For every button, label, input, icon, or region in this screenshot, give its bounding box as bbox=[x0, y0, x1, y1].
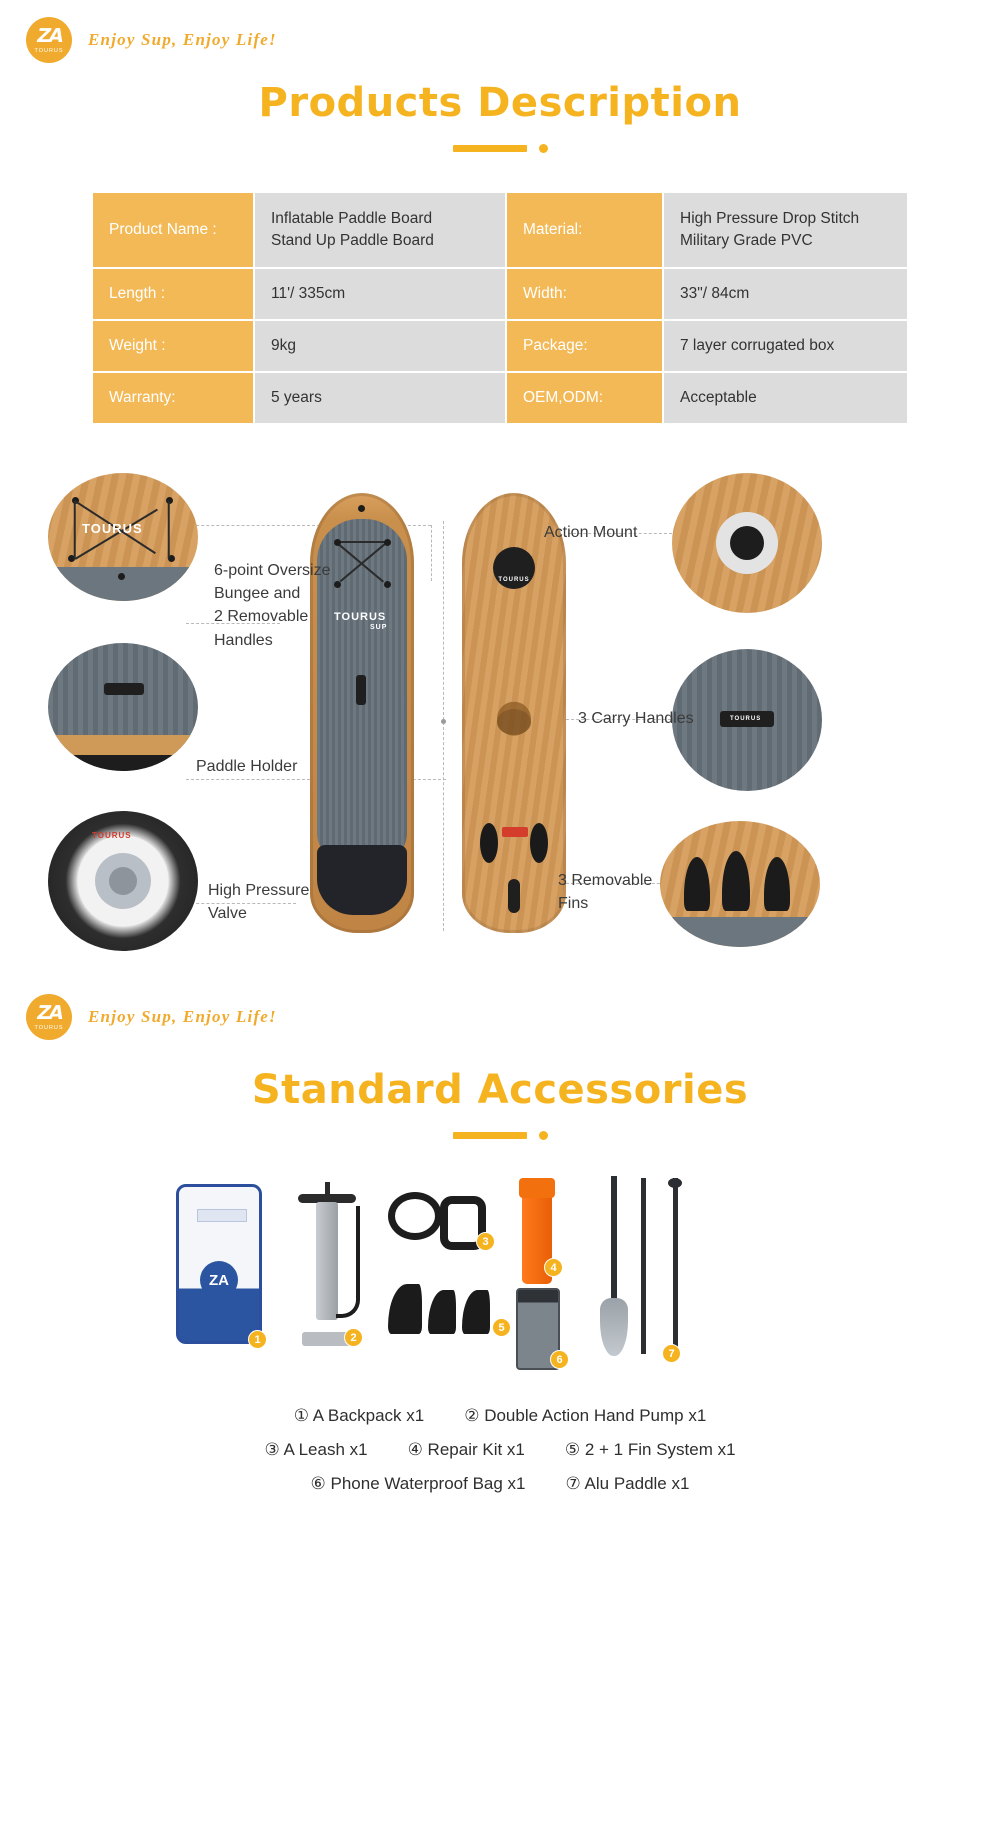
spec-value-length: 11'/ 335cm bbox=[255, 269, 505, 319]
legend-item-fin-system: ⑤ 2 + 1 Fin System x1 bbox=[565, 1440, 736, 1460]
accessory-badge-3: 3 bbox=[476, 1232, 495, 1251]
spec-value-package: 7 layer corrugated box bbox=[664, 321, 907, 371]
spec-value-material: High Pressure Drop Stitch Military Grade… bbox=[664, 193, 907, 267]
logo-initials: ZA bbox=[35, 1004, 64, 1023]
header-logo-band: ZA TOURUS Enjoy Sup, Enjoy Life! bbox=[0, 0, 1000, 62]
board-tail-pad bbox=[317, 845, 407, 915]
spec-key-warranty: Warranty: bbox=[93, 373, 253, 423]
accessory-badge-7: 7 bbox=[662, 1344, 681, 1363]
accessories-gallery: ZA 1 2 3 5 4 bbox=[0, 1166, 1000, 1396]
accessory-badge-1: 1 bbox=[248, 1330, 267, 1349]
spec-key-package: Package: bbox=[507, 321, 662, 371]
board-center-handle bbox=[356, 675, 366, 705]
footer-logo-band: ZA TOURUS Enjoy Sup, Enjoy Life! bbox=[0, 983, 1000, 1045]
legend-item-repair-kit: ④ Repair Kit x1 bbox=[408, 1440, 525, 1460]
callout-fins: 3 Removable Fins bbox=[558, 869, 668, 915]
spec-value-warranty: 5 years bbox=[255, 373, 505, 423]
board-back-logo-label: TOURUS bbox=[498, 577, 529, 583]
detail-photo-carry-handle: TOURUS bbox=[672, 649, 822, 791]
handle-brand-label: TOURUS bbox=[730, 716, 761, 722]
pump-barrel bbox=[316, 1202, 338, 1320]
spec-key-oem-odm: OEM,ODM: bbox=[507, 373, 662, 423]
detail-photo-paddle-holder bbox=[48, 643, 198, 771]
divider-dot-icon bbox=[539, 1131, 548, 1140]
table-row: Weight : 9kg Package: 7 layer corrugated… bbox=[93, 321, 907, 371]
repair-kit-cap bbox=[519, 1178, 555, 1198]
table-row: Warranty: 5 years OEM,ODM: Acceptable bbox=[93, 373, 907, 423]
detail-photo-fins bbox=[660, 821, 820, 947]
detail-photo-brand-label: TOURUS bbox=[82, 521, 143, 536]
accessory-hand-pump: 2 bbox=[292, 1176, 362, 1346]
bag-strip bbox=[197, 1209, 247, 1222]
title-divider bbox=[0, 144, 1000, 153]
board-rear-handle bbox=[508, 879, 520, 913]
accessory-paddle-rod-top bbox=[668, 1178, 682, 1354]
brand-logo-icon: ZA TOURUS bbox=[26, 994, 72, 1040]
page-title-standard-accessories: Standard Accessories bbox=[0, 1067, 1000, 1113]
paddle-shaft bbox=[611, 1176, 617, 1304]
logo-wordmark: TOURUS bbox=[34, 1025, 63, 1031]
accessory-repair-kit: 4 bbox=[522, 1188, 552, 1284]
callout-paddle-holder: Paddle Holder bbox=[196, 755, 297, 778]
legend-item-alu-paddle: ⑦ Alu Paddle x1 bbox=[566, 1474, 690, 1494]
paddle-blade bbox=[600, 1298, 628, 1356]
spec-key-product-name: Product Name : bbox=[93, 193, 253, 267]
title-divider bbox=[0, 1131, 1000, 1140]
detail-photo-valve: TOURUS bbox=[48, 811, 198, 951]
accessory-badge-5: 5 bbox=[492, 1318, 511, 1337]
accessory-badge-2: 2 bbox=[344, 1328, 363, 1347]
brand-logo-icon: ZA TOURUS bbox=[26, 17, 72, 63]
divider-bar bbox=[453, 1132, 527, 1139]
spec-key-weight: Weight : bbox=[93, 321, 253, 371]
turtle-graphic-icon bbox=[481, 689, 547, 755]
spec-value-oem-odm: Acceptable bbox=[664, 373, 907, 423]
board-front-sub-label: SUP bbox=[370, 624, 387, 631]
bag-logo-icon: ZA bbox=[200, 1261, 238, 1299]
spec-value-width: 33"/ 84cm bbox=[664, 269, 907, 319]
leader-line bbox=[431, 525, 432, 581]
brand-tagline: Enjoy Sup, Enjoy Life! bbox=[88, 1007, 277, 1027]
leash-coil bbox=[388, 1192, 442, 1240]
detail-photo-bungee: TOURUS bbox=[48, 473, 198, 601]
table-row: Product Name : Inflatable Paddle Board S… bbox=[93, 193, 907, 267]
divider-dot-icon bbox=[539, 144, 548, 153]
valve-brand-label: TOURUS bbox=[92, 831, 132, 840]
legend-row: ③ A Leash x1 ④ Repair Kit x1 ⑤ 2 + 1 Fin… bbox=[0, 1440, 1000, 1460]
specifications-table: Product Name : Inflatable Paddle Board S… bbox=[91, 191, 909, 425]
legend-item-waterproof-bag: ⑥ Phone Waterproof Bag x1 bbox=[311, 1474, 526, 1494]
brand-tagline: Enjoy Sup, Enjoy Life! bbox=[88, 30, 277, 50]
accessory-badge-6: 6 bbox=[550, 1350, 569, 1369]
accessory-backpack: ZA 1 bbox=[176, 1184, 262, 1344]
spec-value-product-name: Inflatable Paddle Board Stand Up Paddle … bbox=[255, 193, 505, 267]
legend-item-pump: ② Double Action Hand Pump x1 bbox=[464, 1406, 706, 1426]
accessory-waterproof-bag: 6 bbox=[516, 1288, 560, 1370]
accessory-leash: 3 bbox=[388, 1182, 498, 1272]
accessories-legend: ① A Backpack x1 ② Double Action Hand Pum… bbox=[0, 1406, 1000, 1494]
legend-item-backpack: ① A Backpack x1 bbox=[294, 1406, 425, 1426]
legend-row: ⑥ Phone Waterproof Bag x1 ⑦ Alu Paddle x… bbox=[0, 1474, 1000, 1494]
callout-valve: High Pressure Valve bbox=[208, 879, 328, 925]
logo-wordmark: TOURUS bbox=[34, 48, 63, 54]
divider-bar bbox=[453, 145, 527, 152]
spec-key-material: Material: bbox=[507, 193, 662, 267]
feature-diagram: TOURUS TOURUS TOURUS SUP TOURUS bbox=[0, 463, 1000, 983]
callout-carry-handles: 3 Carry Handles bbox=[578, 707, 694, 730]
logo-initials: ZA bbox=[35, 27, 64, 46]
legend-item-leash: ③ A Leash x1 bbox=[264, 1440, 367, 1460]
spec-key-width: Width: bbox=[507, 269, 662, 319]
callout-bungee: 6-point Oversize Bungee and 2 Removable … bbox=[214, 559, 344, 652]
pump-hose bbox=[336, 1206, 360, 1318]
accessory-badge-4: 4 bbox=[544, 1258, 563, 1277]
leader-line bbox=[443, 521, 444, 931]
legend-row: ① A Backpack x1 ② Double Action Hand Pum… bbox=[0, 1406, 1000, 1426]
spec-value-weight: 9kg bbox=[255, 321, 505, 371]
spec-key-length: Length : bbox=[93, 269, 253, 319]
callout-action-mount: Action Mount bbox=[544, 521, 637, 544]
page-title-products-description: Products Description bbox=[0, 80, 1000, 126]
table-row: Length : 11'/ 335cm Width: 33"/ 84cm bbox=[93, 269, 907, 319]
detail-photo-action-mount bbox=[672, 473, 822, 613]
accessory-paddle-rod-mid bbox=[636, 1178, 650, 1354]
leader-dot-icon bbox=[441, 719, 446, 724]
board-back-view: TOURUS bbox=[462, 493, 566, 933]
accessory-alu-paddle bbox=[600, 1176, 628, 1356]
accessory-fin-system: 5 bbox=[388, 1278, 508, 1338]
